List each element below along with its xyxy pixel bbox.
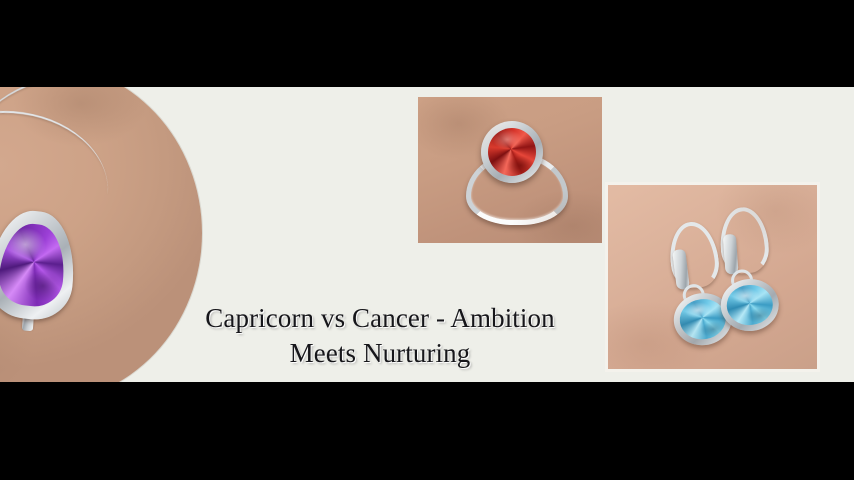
- ring-bezel: [481, 121, 543, 183]
- earring-lever-left: [672, 249, 690, 290]
- earring-hook-right: [718, 206, 770, 275]
- amethyst-gem-large: [0, 221, 68, 309]
- earring-bezel-left: [671, 290, 735, 349]
- blue-topaz-gem-right: [726, 283, 774, 327]
- banner-headline: Capricorn vs Cancer - Ambition Meets Nur…: [120, 301, 640, 370]
- garnet-gem: [488, 128, 536, 176]
- earring-lever-right: [723, 234, 739, 275]
- earring-jumpring-right: [730, 269, 753, 292]
- blue-topaz-gem-left: [678, 296, 728, 342]
- earring-hook-left: [666, 219, 722, 290]
- pendant-drop-large: [0, 208, 78, 334]
- garnet-silver-ring-image: [418, 97, 602, 243]
- letterbox-bar-top: [0, 0, 854, 87]
- ring-band: [466, 153, 568, 225]
- earring-jumpring-left: [681, 283, 706, 308]
- banner-content-stage: Capricorn vs Cancer - Ambition Meets Nur…: [0, 87, 854, 382]
- banner-frame: Capricorn vs Cancer - Ambition Meets Nur…: [0, 0, 854, 480]
- earring-bezel-right: [719, 277, 780, 333]
- pendant-bezel-large: [0, 207, 80, 323]
- letterbox-bar-bottom: [0, 382, 854, 480]
